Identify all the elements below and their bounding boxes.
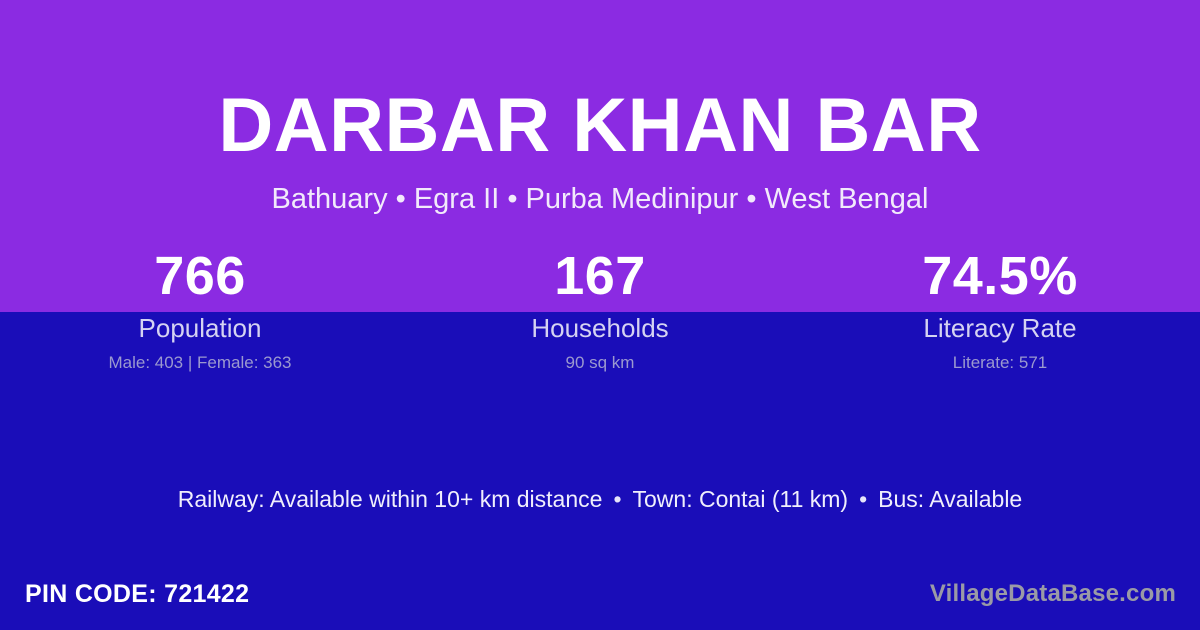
infra-town: Town: Contai (11 km) <box>633 486 849 512</box>
stat-label-population: Population <box>0 314 400 344</box>
breadcrumb: Bathuary • Egra II • Purba Medinipur • W… <box>0 182 1200 217</box>
site-watermark: VillageDataBase.com <box>930 572 1176 616</box>
infrastructure-line: Railway: Available within 10+ km distanc… <box>0 485 1200 514</box>
infra-separator-2: • <box>848 485 878 514</box>
village-info-card: DARBAR KHAN BAR Bathuary • Egra II • Pur… <box>0 0 1200 630</box>
stat-households: 167 Households 90 sq km <box>400 248 800 373</box>
stat-sub-households: 90 sq km <box>400 353 800 373</box>
stat-literacy-rate: 74.5% Literacy Rate Literate: 571 <box>800 248 1200 373</box>
stat-sub-population: Male: 403 | Female: 363 <box>0 353 400 373</box>
infra-bus: Bus: Available <box>878 486 1022 512</box>
stats-row: 766 Population Male: 403 | Female: 363 1… <box>0 248 1200 373</box>
stat-sub-literacy-rate: Literate: 571 <box>800 353 1200 373</box>
stat-value-households: 167 <box>400 248 800 312</box>
infra-separator-1: • <box>602 485 632 514</box>
page-title: DARBAR KHAN BAR <box>0 88 1200 164</box>
pin-code: PIN CODE: 721422 <box>25 572 249 616</box>
card-footer: PIN CODE: 721422 VillageDataBase.com <box>0 572 1200 616</box>
stat-label-households: Households <box>400 314 800 344</box>
stat-value-literacy-rate: 74.5% <box>800 248 1200 312</box>
stat-label-literacy-rate: Literacy Rate <box>800 314 1200 344</box>
infra-railway: Railway: Available within 10+ km distanc… <box>178 486 603 512</box>
stat-value-population: 766 <box>0 248 400 312</box>
stat-population: 766 Population Male: 403 | Female: 363 <box>0 248 400 373</box>
